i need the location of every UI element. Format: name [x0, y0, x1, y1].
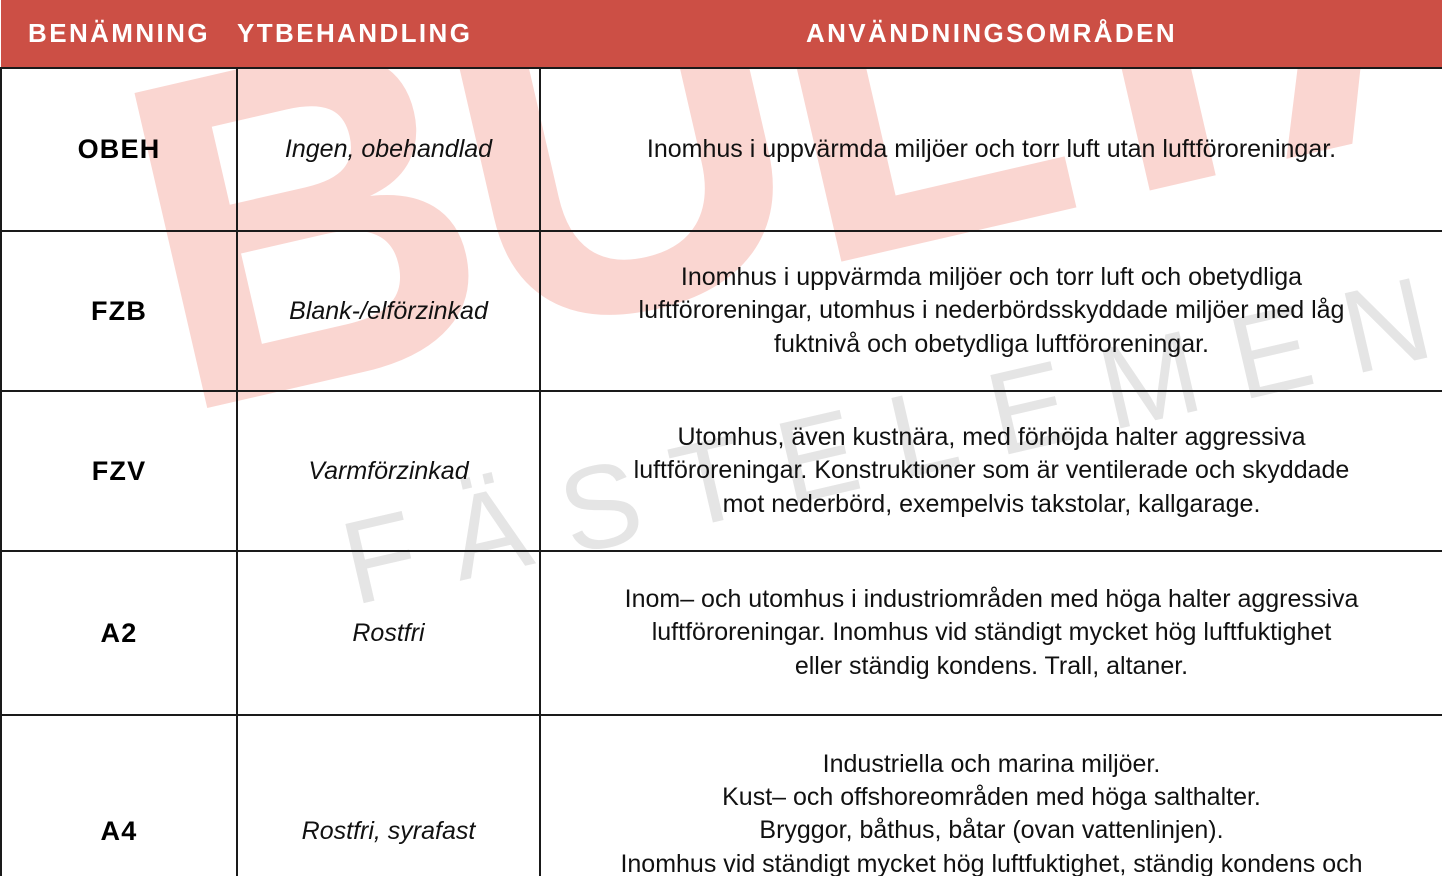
column-header-anvandningsomraden: ANVÄNDNINGSOMRÅDEN	[540, 0, 1442, 68]
surface-treatment-table-wrapper: BENÄMNING YTBEHANDLING ANVÄNDNINGSOMRÅDE…	[0, 0, 1442, 876]
cell-anvandningsomraden: Industriella och marina miljöer. Kust– o…	[540, 715, 1442, 876]
column-header-benamning: BENÄMNING	[1, 0, 237, 68]
description-line: eller ständig kondens. Trall, altaner.	[567, 650, 1416, 683]
cell-ytbehandling: Blank-/elförzinkad	[237, 231, 540, 391]
table-row: A2 Rostfri Inom– och utomhus i industrio…	[1, 551, 1442, 715]
cell-anvandningsomraden: Inomhus i uppvärmda miljöer och torr luf…	[540, 231, 1442, 391]
cell-anvandningsomraden: Inomhus i uppvärmda miljöer och torr luf…	[540, 68, 1442, 231]
table-row: FZV Varmförzinkad Utomhus, även kustnära…	[1, 391, 1442, 551]
cell-ytbehandling: Rostfri, syrafast	[237, 715, 540, 876]
table-header: BENÄMNING YTBEHANDLING ANVÄNDNINGSOMRÅDE…	[1, 0, 1442, 68]
cell-benamning: A4	[1, 715, 237, 876]
table-row: OBEH Ingen, obehandlad Inomhus i uppvärm…	[1, 68, 1442, 231]
description-line: Inomhus i uppvärmda miljöer och torr luf…	[567, 261, 1416, 294]
surface-treatment-table: BENÄMNING YTBEHANDLING ANVÄNDNINGSOMRÅDE…	[0, 0, 1442, 876]
cell-anvandningsomraden: Utomhus, även kustnära, med förhöjda hal…	[540, 391, 1442, 551]
cell-benamning: OBEH	[1, 68, 237, 231]
cell-ytbehandling: Rostfri	[237, 551, 540, 715]
cell-ytbehandling: Varmförzinkad	[237, 391, 540, 551]
description-line: mot nederbörd, exempelvis takstolar, kal…	[567, 488, 1416, 521]
description-line: Utomhus, även kustnära, med förhöjda hal…	[567, 421, 1416, 454]
description-line: Bryggor, båthus, båtar (ovan vattenlinje…	[567, 814, 1416, 847]
cell-anvandningsomraden: Inom– och utomhus i industriområden med …	[540, 551, 1442, 715]
description-line: Kust– och offshoreområden med höga salth…	[567, 781, 1416, 814]
description-line: luftföroreningar. Inomhus vid ständigt m…	[567, 616, 1416, 649]
description-line: Inom– och utomhus i industriområden med …	[567, 583, 1416, 616]
cell-benamning: A2	[1, 551, 237, 715]
description-line: luftföroreningar. Konstruktioner som är …	[567, 454, 1416, 487]
cell-benamning: FZB	[1, 231, 237, 391]
description-line: Industriella och marina miljöer.	[567, 748, 1416, 781]
table-body: OBEH Ingen, obehandlad Inomhus i uppvärm…	[1, 68, 1442, 876]
page-root: BULTAB FÄSTELEMENT BENÄMNING YTBEHANDLIN…	[0, 0, 1442, 876]
column-header-ytbehandling: YTBEHANDLING	[237, 0, 540, 68]
description-line: fuktnivå och obetydliga luftföroreningar…	[567, 328, 1416, 361]
description-line: Inomhus vid ständigt mycket hög luftfukt…	[567, 848, 1416, 876]
table-row: A4 Rostfri, syrafast Industriella och ma…	[1, 715, 1442, 876]
cell-benamning: FZV	[1, 391, 237, 551]
table-header-row: BENÄMNING YTBEHANDLING ANVÄNDNINGSOMRÅDE…	[1, 0, 1442, 68]
description-line: luftföroreningar, utomhus i nederbördssk…	[567, 294, 1416, 327]
cell-ytbehandling: Ingen, obehandlad	[237, 68, 540, 231]
description-line: Inomhus i uppvärmda miljöer och torr luf…	[567, 133, 1416, 166]
table-row: FZB Blank-/elförzinkad Inomhus i uppvärm…	[1, 231, 1442, 391]
